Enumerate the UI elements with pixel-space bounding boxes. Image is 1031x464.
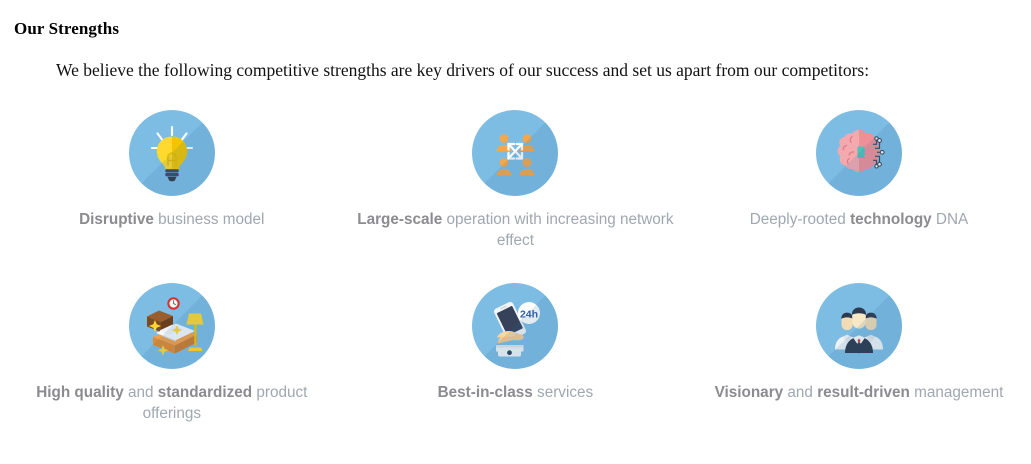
- strength-item-high-quality[interactable]: High quality and standardized product of…: [0, 283, 344, 424]
- brain-circuit-icon: [816, 110, 902, 196]
- caption-bold-1: Best-in-class: [438, 384, 533, 401]
- bedroom-furniture-icon: [129, 283, 215, 369]
- strengths-row-1: Disruptive business model: [0, 110, 1031, 251]
- caption-regular-1: and: [124, 384, 158, 401]
- strength-caption: Visionary and result-driven management: [715, 382, 1004, 403]
- caption-bold-1: technology: [850, 211, 932, 228]
- badge-24h-label: 24h: [520, 308, 538, 320]
- strength-item-visionary[interactable]: Visionary and result-driven management: [687, 283, 1031, 424]
- caption-regular-2: management: [910, 384, 1004, 401]
- strength-caption: Large-scale operation with increasing ne…: [345, 209, 685, 251]
- caption-bold-2: standardized: [158, 384, 252, 401]
- network-people-icon: [472, 110, 558, 196]
- strength-item-large-scale[interactable]: Large-scale operation with increasing ne…: [344, 110, 688, 251]
- hand-smartphone-24h-icon: 24h: [472, 283, 558, 369]
- strengths-grid: Disruptive business model: [0, 110, 1031, 464]
- business-team-icon: [816, 283, 902, 369]
- strength-item-disruptive[interactable]: Disruptive business model: [0, 110, 344, 251]
- strength-item-technology[interactable]: Deeply-rooted technology DNA: [687, 110, 1031, 251]
- strength-caption: High quality and standardized product of…: [12, 382, 332, 424]
- caption-regular-1: and: [783, 384, 817, 401]
- caption-regular-1: services: [533, 384, 593, 401]
- intro-paragraph-text: We believe the following competitive str…: [56, 60, 869, 80]
- caption-bold-1: Large-scale: [357, 211, 442, 228]
- strength-caption: Disruptive business model: [79, 209, 264, 230]
- strength-item-best-in-class[interactable]: 24h Best-in-class services: [344, 283, 688, 424]
- strengths-row-2: High quality and standardized product of…: [0, 283, 1031, 424]
- caption-bold-2: result-driven: [817, 384, 910, 401]
- caption-bold-1: High quality: [36, 384, 124, 401]
- caption-regular-1: Deeply-rooted: [750, 211, 850, 228]
- intro-paragraph: We believe the following competitive str…: [14, 58, 1017, 83]
- caption-bold-1: Disruptive: [79, 211, 154, 228]
- caption-regular-1: operation with increasing network effect: [442, 211, 673, 249]
- page-title: Our Strengths: [14, 19, 119, 39]
- lightbulb-icon: [129, 110, 215, 196]
- caption-regular-2: DNA: [932, 211, 969, 228]
- caption-regular-1: business model: [154, 211, 265, 228]
- strength-caption: Deeply-rooted technology DNA: [750, 209, 968, 230]
- caption-bold-1: Visionary: [715, 384, 784, 401]
- strength-caption: Best-in-class services: [438, 382, 594, 403]
